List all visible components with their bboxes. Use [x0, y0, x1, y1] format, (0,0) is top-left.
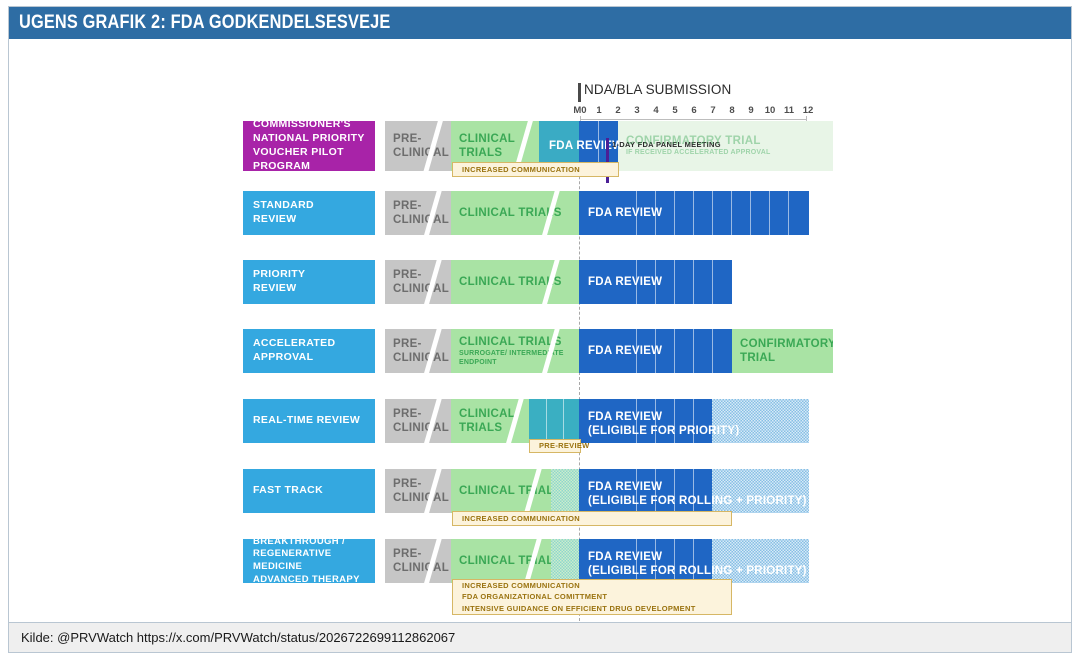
segment-fda-review[interactable] — [579, 329, 732, 373]
confirmatory-line-1: CONFIRMATORY — [740, 337, 833, 351]
clinical-trials-line-2: TRIALS — [459, 421, 529, 435]
label-line-2: REVIEW — [253, 282, 375, 296]
preclinical-line-1: PRE- — [393, 477, 451, 491]
month-gridline — [636, 191, 637, 235]
month-gridline — [655, 539, 656, 583]
month-gridline — [655, 399, 656, 443]
annotation-line-3: INTENSIVE GUIDANCE ON EFFICIENT DRUG DEV… — [462, 603, 731, 615]
axis-tick-8: 8 — [729, 105, 734, 116]
pathway-label-standard-review[interactable]: STANDARD REVIEW — [243, 191, 375, 235]
label-line-1: STANDARD — [253, 199, 375, 213]
month-gridline — [693, 469, 694, 513]
month-gridline — [712, 329, 713, 373]
submission-label: NDA/BLA SUBMISSION — [584, 82, 731, 97]
month-gridline — [546, 399, 547, 443]
month-gridline — [674, 329, 675, 373]
month-gridline — [674, 469, 675, 513]
annotation-line-1: INCREASED COMMUNICATION — [462, 164, 618, 176]
confirmatory-line-1: CONFIRMATORY TRIAL — [626, 134, 833, 148]
month-gridline — [674, 399, 675, 443]
pathway-label-commissioners-voucher[interactable]: COMMISSIONER'S NATIONAL PRIORITY VOUCHER… — [243, 121, 375, 171]
segment-preclinical[interactable]: PRE- CLINICAL — [385, 329, 451, 373]
preclinical-line-1: PRE- — [393, 132, 451, 146]
label-line-1: COMMISSIONER'S — [253, 118, 375, 132]
confirmatory-line-2: TRIAL — [740, 351, 833, 365]
axis-tick-10: 10 — [765, 105, 776, 116]
preclinical-line-1: PRE- — [393, 199, 451, 213]
segment-hatched-extension[interactable] — [712, 539, 809, 583]
label-line-1: BREAKTHROUGH / — [253, 536, 375, 549]
preclinical-line-1: PRE- — [393, 337, 451, 351]
source-footer: Kilde: @PRVWatch https://x.com/PRVWatch/… — [9, 622, 1071, 652]
clinical-trials-label: CLINICAL TRIALS — [459, 275, 579, 289]
axis-tick-0: M0 — [573, 105, 586, 116]
segment-preclinical[interactable]: PRE- CLINICAL — [385, 539, 451, 583]
annotation-pre-review: PRE-REVIEW — [529, 439, 581, 453]
segment-clinical-trials-hatched[interactable] — [551, 469, 579, 513]
segment-fda-review[interactable] — [579, 191, 809, 235]
axis-tick-6: 6 — [691, 105, 696, 116]
month-gridline — [655, 260, 656, 304]
axis-tick-2: 2 — [615, 105, 620, 116]
month-gridline — [731, 191, 732, 235]
clinical-trials-label: CLINICAL TRIALS — [459, 335, 579, 349]
axis-tick-1: 1 — [596, 105, 601, 116]
segment-preclinical[interactable]: PRE- CLINICAL — [385, 399, 451, 443]
slide-frame: UGENS GRAFIK 2: FDA GODKENDELSESVEJE NDA… — [8, 6, 1072, 653]
axis-tick-5: 5 — [672, 105, 677, 116]
month-gridline — [674, 260, 675, 304]
preclinical-line-2: CLINICAL — [393, 351, 451, 365]
annotation-increased-communication: INCREASED COMMUNICATION — [452, 511, 732, 526]
axis-tick-9: 9 — [748, 105, 753, 116]
clinical-trials-label: CLINICAL TRIALS — [459, 206, 579, 220]
preclinical-line-2: CLINICAL — [393, 213, 451, 227]
pathway-label-breakthrough-rmat[interactable]: BREAKTHROUGH / REGENERATIVE MEDICINE ADV… — [243, 539, 375, 583]
segment-clinical-trials[interactable]: CLINICAL TRIALS SURROGATE/ INTERMEDIATE … — [451, 329, 579, 373]
page-title: UGENS GRAFIK 2: FDA GODKENDELSESVEJE — [19, 12, 390, 34]
segment-confirmatory-trial[interactable]: CONFIRMATORY TRIAL IF RECEIVED ACCELERAT… — [618, 121, 833, 171]
month-gridline — [636, 329, 637, 373]
month-gridline — [769, 191, 770, 235]
annotation-line-1: INCREASED COMMUNICATION — [462, 580, 731, 592]
month-gridline — [712, 260, 713, 304]
month-gridline — [655, 469, 656, 513]
month-gridline — [636, 260, 637, 304]
month-gridline — [693, 399, 694, 443]
annotation-line-1: PRE-REVIEW — [539, 440, 580, 452]
month-gridline — [750, 191, 751, 235]
segment-preclinical[interactable]: PRE- CLINICAL — [385, 121, 451, 171]
annotation-line-1: INCREASED COMMUNICATION — [462, 513, 731, 525]
segment-preclinical[interactable]: PRE- CLINICAL — [385, 191, 451, 235]
source-text: Kilde: @PRVWatch https://x.com/PRVWatch/… — [21, 630, 455, 645]
segment-fda-review[interactable] — [579, 260, 732, 304]
axis-tick-7: 7 — [710, 105, 715, 116]
segment-fda-review[interactable] — [579, 539, 712, 583]
segment-clinical-trials[interactable]: CLINICAL TRIALS — [451, 399, 529, 443]
preclinical-line-1: PRE- — [393, 268, 451, 282]
annotation-line-2: FDA ORGANIZATIONAL COMITTMENT — [462, 591, 731, 603]
label-line-2: REVIEW — [253, 213, 375, 227]
annotation-breakthrough-benefits: INCREASED COMMUNICATION FDA ORGANIZATION… — [452, 579, 732, 615]
segment-pre-review[interactable] — [529, 399, 579, 443]
pathway-label-priority-review[interactable]: PRIORITY REVIEW — [243, 260, 375, 304]
clinical-trials-label: CLINICAL TRIALS — [459, 554, 551, 568]
segment-clinical-trials[interactable]: CLINICAL TRIALS — [451, 191, 579, 235]
confirmatory-line-2: IF RECEIVED ACCELERATED APPROVAL — [626, 148, 833, 157]
pathway-label-real-time-review[interactable]: REAL-TIME REVIEW — [243, 399, 375, 443]
preclinical-line-2: CLINICAL — [393, 421, 451, 435]
month-gridline — [636, 399, 637, 443]
label-line-3: ADVANCED THERAPY — [253, 574, 375, 587]
preclinical-line-2: CLINICAL — [393, 561, 451, 575]
month-gridline — [655, 191, 656, 235]
preclinical-line-1: PRE- — [393, 407, 451, 421]
segment-hatched-extension[interactable] — [712, 469, 809, 513]
slide: UGENS GRAFIK 2: FDA GODKENDELSESVEJE NDA… — [0, 0, 1080, 659]
label-line-2: NATIONAL PRIORITY — [253, 132, 375, 146]
label-line-1: FAST TRACK — [253, 484, 375, 498]
month-gridline — [693, 539, 694, 583]
segment-preclinical[interactable]: PRE- CLINICAL — [385, 469, 451, 513]
axis-tick-12: 12 — [803, 105, 814, 116]
pathway-label-accelerated-approval[interactable]: ACCELERATED APPROVAL — [243, 329, 375, 373]
segment-clinical-trials[interactable]: CLINICAL TRIALS — [451, 539, 551, 583]
month-gridline — [693, 191, 694, 235]
axis-line — [580, 119, 806, 120]
pathway-label-fast-track[interactable]: FAST TRACK — [243, 469, 375, 513]
segment-preclinical[interactable]: PRE- CLINICAL — [385, 260, 451, 304]
month-gridline — [674, 539, 675, 583]
month-gridline — [674, 191, 675, 235]
clinical-trials-line-2: TRIALS — [459, 146, 539, 160]
preclinical-line-2: CLINICAL — [393, 146, 451, 160]
segment-confirmatory-trial[interactable]: CONFIRMATORY TRIAL — [732, 329, 833, 373]
label-line-1: PRIORITY — [253, 268, 375, 282]
segment-fda-review[interactable] — [579, 469, 712, 513]
axis-tick-11: 11 — [784, 105, 794, 116]
segment-hatched-extension[interactable] — [712, 399, 809, 443]
month-gridline — [788, 191, 789, 235]
clinical-trials-sub-1: SURROGATE/ INTERMEDIATE — [459, 349, 579, 358]
month-gridline — [636, 539, 637, 583]
preclinical-line-2: CLINICAL — [393, 282, 451, 296]
month-gridline — [712, 191, 713, 235]
month-gridline — [693, 329, 694, 373]
label-line-2: APPROVAL — [253, 351, 375, 365]
label-line-3: VOUCHER PILOT PROGRAM — [253, 146, 375, 174]
segment-clinical-trials-hatched[interactable] — [551, 539, 579, 583]
label-line-1: ACCELERATED — [253, 337, 375, 351]
axis-tick-3: 3 — [634, 105, 639, 116]
label-line-2: REGENERATIVE MEDICINE — [253, 548, 375, 573]
clinical-trials-label: CLINICAL TRIALS — [459, 484, 551, 498]
preclinical-line-1: PRE- — [393, 547, 451, 561]
month-gridline — [693, 260, 694, 304]
segment-clinical-trials[interactable]: CLINICAL TRIALS — [451, 469, 551, 513]
title-bar: UGENS GRAFIK 2: FDA GODKENDELSESVEJE — [9, 7, 1071, 39]
chart-canvas: NDA/BLA SUBMISSION M0 1 2 3 4 5 6 7 8 9 … — [9, 39, 1071, 616]
segment-clinical-trials[interactable]: CLINICAL TRIALS — [451, 260, 579, 304]
submission-marker — [578, 83, 581, 102]
preclinical-line-2: CLINICAL — [393, 491, 451, 505]
segment-fda-review[interactable] — [579, 399, 712, 443]
month-gridline — [655, 329, 656, 373]
month-gridline — [563, 399, 564, 443]
annotation-increased-communication: INCREASED COMMUNICATION — [452, 162, 619, 177]
label-line-1: REAL-TIME REVIEW — [253, 414, 375, 428]
clinical-trials-sub-2: ENDPOINT — [459, 358, 579, 367]
axis-tick-4: 4 — [653, 105, 658, 116]
month-gridline — [636, 469, 637, 513]
